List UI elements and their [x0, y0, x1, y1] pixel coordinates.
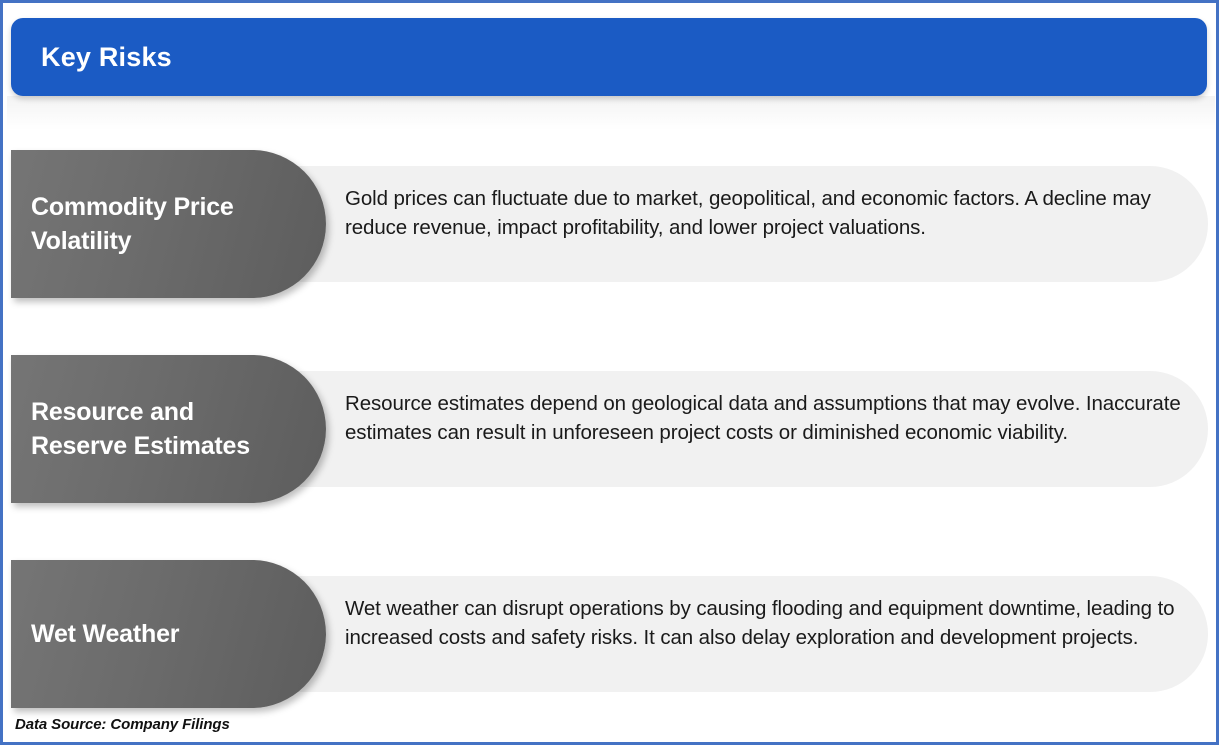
- slide-frame: Key Risks Gold prices can fluctuate due …: [0, 0, 1219, 745]
- risk-description-text: Resource estimates depend on geological …: [345, 389, 1185, 447]
- risk-title-text: Wet Weather: [31, 617, 271, 651]
- risk-title-pill: Commodity Price Volatility: [11, 150, 326, 298]
- risk-row: Resource estimates depend on geological …: [3, 355, 1208, 503]
- header-banner: Key Risks: [11, 18, 1207, 96]
- risk-title-pill: Resource and Reserve Estimates: [11, 355, 326, 503]
- page-title: Key Risks: [41, 42, 172, 73]
- risk-description-text: Wet weather can disrupt operations by ca…: [345, 594, 1185, 652]
- risk-row: Gold prices can fluctuate due to market,…: [3, 150, 1208, 298]
- risk-title-text: Commodity Price Volatility: [31, 190, 271, 258]
- banner-underlay: [7, 96, 1215, 130]
- risk-row: Wet weather can disrupt operations by ca…: [3, 560, 1208, 708]
- risk-title-text: Resource and Reserve Estimates: [31, 395, 271, 463]
- data-source-note: Data Source: Company Filings: [15, 716, 230, 733]
- risk-title-pill: Wet Weather: [11, 560, 326, 708]
- risk-description-text: Gold prices can fluctuate due to market,…: [345, 184, 1185, 242]
